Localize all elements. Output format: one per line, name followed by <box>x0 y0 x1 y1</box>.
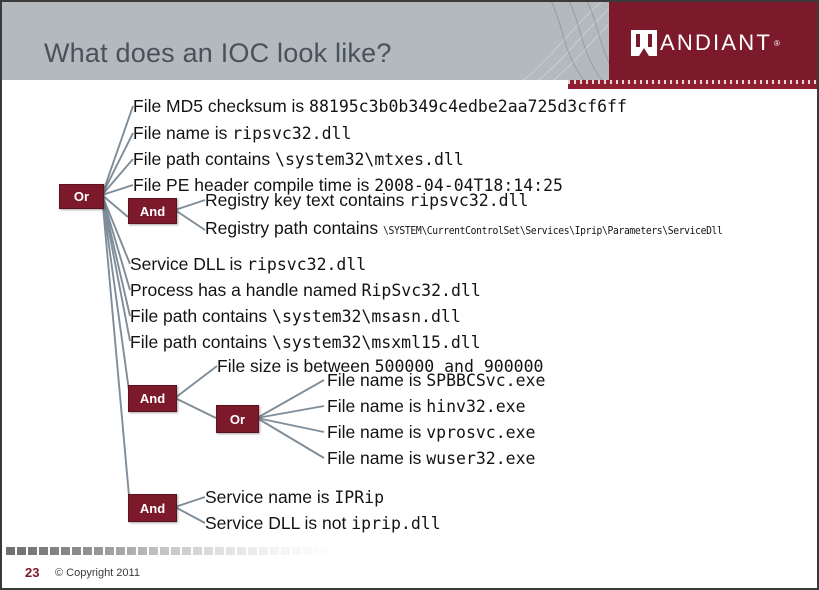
condition-label: File MD5 checksum is <box>133 96 309 116</box>
condition-row[interactable]: Service DLL is ripsvc32.dll <box>130 256 366 274</box>
brand-panel: ANDIANT ® <box>609 2 817 80</box>
condition-label: Service name is <box>205 487 334 507</box>
condition-value: vprosvc.exe <box>426 423 535 442</box>
condition-row[interactable]: Service DLL is not iprip.dll <box>205 515 441 533</box>
logo-m-mark <box>631 30 657 56</box>
condition-value: SPBBCSvc.exe <box>426 371 545 390</box>
condition-value: 88195c3b0b349c4edbe2aa725d3cf6ff <box>309 97 627 116</box>
condition-row[interactable]: File name is vprosvc.exe <box>327 424 535 442</box>
condition-label: Registry key text contains <box>205 190 409 210</box>
condition-row[interactable]: File name is SPBBCSvc.exe <box>327 372 545 390</box>
condition-label: Registry path contains <box>205 218 383 238</box>
condition-row[interactable]: File MD5 checksum is 88195c3b0b349c4edbe… <box>133 98 627 116</box>
condition-row[interactable]: File path contains \system32\msxml15.dll <box>130 334 481 352</box>
condition-row[interactable]: File name is wuser32.exe <box>327 450 535 468</box>
condition-value: ripsvc32.dll <box>247 255 366 274</box>
condition-row[interactable]: Registry path contains \SYSTEM\CurrentCo… <box>205 220 769 238</box>
condition-label: File path contains <box>130 306 272 326</box>
condition-label: File name is <box>327 396 426 416</box>
condition-label: File path contains <box>130 332 272 352</box>
mandiant-logo: ANDIANT ® <box>631 30 780 56</box>
condition-value: hinv32.exe <box>426 397 525 416</box>
page-title: What does an IOC look like? <box>44 38 392 69</box>
condition-value: \system32\msasn.dll <box>272 307 461 326</box>
header-accent-rule <box>568 80 817 89</box>
logic-node-or-filenames[interactable]: Or <box>216 405 259 433</box>
logic-node-and-registry[interactable]: And <box>128 198 177 224</box>
condition-value: wuser32.exe <box>426 449 535 468</box>
condition-value: \SYSTEM\CurrentControlSet\Services\Iprip… <box>383 225 723 236</box>
condition-label: Service DLL is not <box>205 513 351 533</box>
condition-value: \system32\mtxes.dll <box>275 150 464 169</box>
condition-label: File name is <box>327 448 426 468</box>
condition-row[interactable]: File path contains \system32\mtxes.dll <box>133 151 464 169</box>
condition-value: RipSvc32.dll <box>362 281 481 300</box>
condition-row[interactable]: Service name is IPRip <box>205 489 384 507</box>
page-number: 23 <box>25 565 39 580</box>
condition-value: IPRip <box>334 488 384 507</box>
condition-row[interactable]: File name is hinv32.exe <box>327 398 526 416</box>
condition-label: Process has a handle named <box>130 280 362 300</box>
slide-header: What does an IOC look like? ANDIANT ® <box>2 2 817 80</box>
condition-value: iprip.dll <box>351 514 440 533</box>
trademark-symbol: ® <box>774 39 780 48</box>
condition-label: File name is <box>327 370 426 390</box>
condition-value: \system32\msxml15.dll <box>272 333 481 352</box>
logic-node-and-service[interactable]: And <box>128 494 177 522</box>
logo-wordmark: ANDIANT <box>660 30 772 56</box>
condition-label: File name is <box>133 123 232 143</box>
copyright-notice: © Copyright 2011 <box>55 567 140 579</box>
condition-label: File path contains <box>133 149 275 169</box>
logic-node-or-root[interactable]: Or <box>59 184 104 209</box>
condition-label: Service DLL is <box>130 254 247 274</box>
condition-value: ripsvc32.dll <box>232 124 351 143</box>
condition-label: File name is <box>327 422 426 442</box>
logic-node-and-filesize[interactable]: And <box>128 385 177 412</box>
condition-row[interactable]: Process has a handle named RipSvc32.dll <box>130 282 481 300</box>
condition-value: ripsvc32.dll <box>409 191 528 210</box>
slide: What does an IOC look like? ANDIANT ® <box>0 0 819 590</box>
condition-row[interactable]: File path contains \system32\msasn.dll <box>130 308 461 326</box>
footer-gradient-bar <box>6 547 336 555</box>
condition-row[interactable]: File name is ripsvc32.dll <box>133 125 351 143</box>
condition-row[interactable]: Registry key text contains ripsvc32.dll <box>205 192 528 210</box>
ioc-tree: Or And And Or And File MD5 checksum is 8… <box>2 89 817 534</box>
